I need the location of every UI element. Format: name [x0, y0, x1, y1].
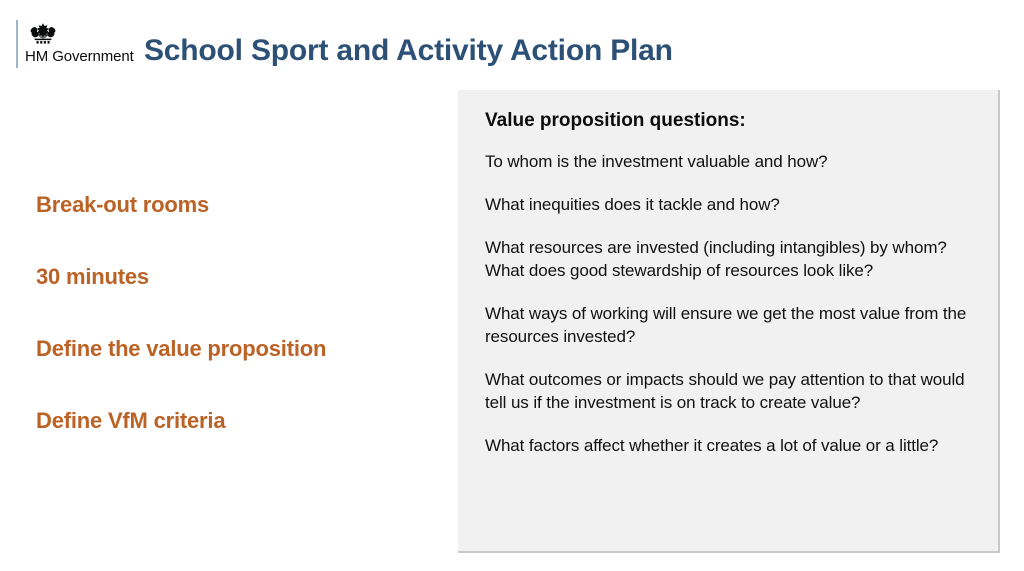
- royal-coat-of-arms-icon: [26, 20, 60, 46]
- hm-government-logo: HM Government: [16, 20, 134, 68]
- agenda-list: Break-out rooms 30 minutes Define the va…: [36, 190, 436, 478]
- panel-content: Value proposition questions: To whom is …: [458, 90, 998, 457]
- agenda-item-define-the-value-proposition: Define the value proposition: [36, 334, 436, 406]
- question-item: What inequities does it tackle and how?: [485, 193, 974, 216]
- agenda-item-break-out-rooms: Break-out rooms: [36, 190, 436, 262]
- question-item: What factors affect whether it creates a…: [485, 434, 974, 457]
- slide-header: HM Government School Sport and Activity …: [0, 0, 1024, 92]
- logo-body: HM Government: [25, 20, 134, 68]
- question-item: What resources are invested (including i…: [485, 236, 974, 282]
- value-proposition-questions-panel: Value proposition questions: To whom is …: [458, 90, 1000, 553]
- question-item: What ways of working will ensure we get …: [485, 302, 974, 348]
- page-title: School Sport and Activity Action Plan: [144, 34, 673, 68]
- panel-heading: Value proposition questions:: [485, 108, 974, 134]
- logo-divider-rule: [16, 20, 18, 68]
- agenda-item-define-vfm-criteria: Define VfM criteria: [36, 406, 436, 478]
- slide: HM Government School Sport and Activity …: [0, 0, 1024, 571]
- question-item: To whom is the investment valuable and h…: [485, 150, 974, 173]
- agenda-item-30-minutes: 30 minutes: [36, 262, 436, 334]
- question-item: What outcomes or impacts should we pay a…: [485, 368, 974, 414]
- logo-text: HM Government: [25, 48, 134, 65]
